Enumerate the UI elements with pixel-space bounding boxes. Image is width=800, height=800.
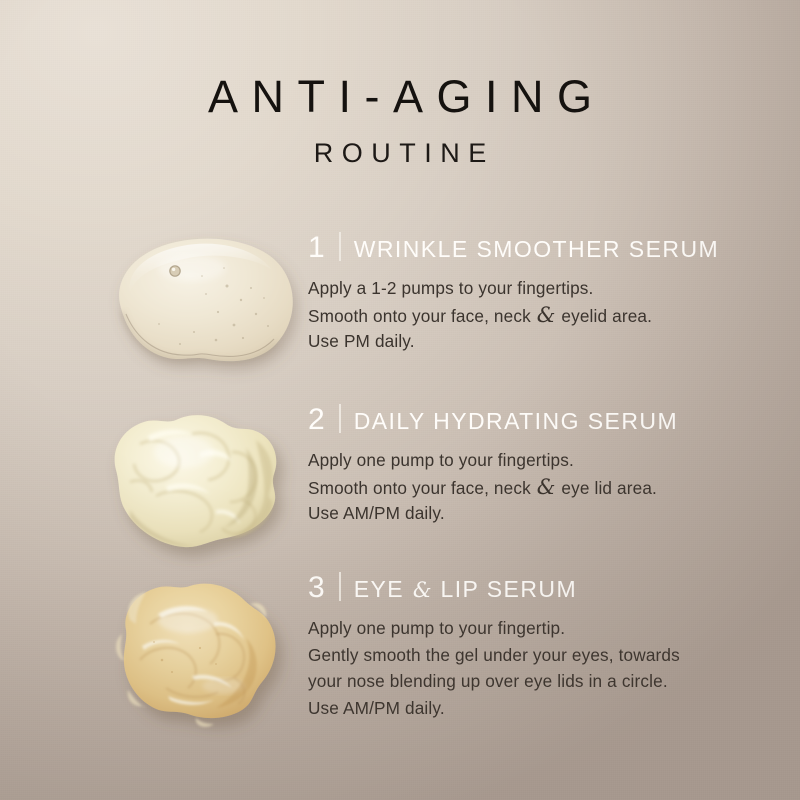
body-line: Apply one pump to your fingertip. [308,615,778,642]
ampersand-glyph: & [536,475,557,499]
step-text-column: 2 DAILY HYDRATING SERUM Apply one pump t… [308,400,778,527]
routine-step: 1 WRINKLE SMOOTHER SERUM Apply a 1-2 pum… [0,228,800,398]
step-heading: 1 WRINKLE SMOOTHER SERUM [308,228,778,262]
body-line: Apply a 1-2 pumps to your fingertips. [308,275,778,302]
step-text-column: 3 EYE & LIP SERUM Apply one pump to your… [308,568,778,721]
page-title: ANTI-AGING [0,74,800,119]
body-line: your nose blending up over eye lids in a… [308,668,778,695]
heading-divider [339,404,341,433]
heading-divider [339,232,341,261]
body-line: Smooth onto your face, neck & eyelid are… [308,302,778,329]
body-line: Apply one pump to your fingertips. [308,447,778,474]
step-body: Apply a 1-2 pumps to your fingertips. Sm… [308,275,778,355]
anti-aging-routine-graphic: ANTI-AGING ROUTINE [0,0,800,800]
heading-divider [339,572,341,601]
step-body: Apply one pump to your fingertip. Gently… [308,615,778,721]
gel-blob-swatch [96,568,311,743]
routine-step: 2 DAILY HYDRATING SERUM Apply one pump t… [0,400,800,570]
step-title: EYE & LIP SERUM [354,576,577,603]
body-line: Use PM daily. [308,328,778,355]
ampersand-glyph: & [536,303,557,327]
body-line: Use AM/PM daily. [308,500,778,527]
step-title: WRINKLE SMOOTHER SERUM [354,236,719,263]
body-line: Use AM/PM daily. [308,695,778,722]
header: ANTI-AGING ROUTINE [0,74,800,167]
body-line: Gently smooth the gel under your eyes, t… [308,642,778,669]
cream-dollop-swatch [96,400,311,575]
page-subtitle: ROUTINE [0,140,800,167]
step-body: Apply one pump to your fingertips. Smoot… [308,447,778,527]
step-number: 1 [308,233,325,263]
step-title: DAILY HYDRATING SERUM [354,408,678,435]
step-heading: 2 DAILY HYDRATING SERUM [308,400,778,434]
step-number: 3 [308,573,325,603]
step-number: 2 [308,405,325,435]
step-text-column: 1 WRINKLE SMOOTHER SERUM Apply a 1-2 pum… [308,228,778,355]
step-heading: 3 EYE & LIP SERUM [308,568,778,602]
body-line: Smooth onto your face, neck & eye lid ar… [308,474,778,501]
ampersand-glyph: & [412,578,433,602]
routine-step: 3 EYE & LIP SERUM Apply one pump to your… [0,568,800,738]
serum-drop-swatch [96,228,311,403]
